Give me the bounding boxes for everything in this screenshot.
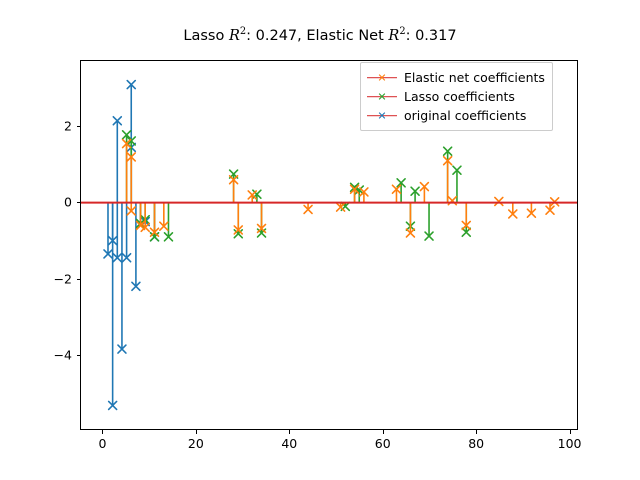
legend-label-lasso: Lasso coefficients — [404, 89, 515, 104]
x-tick-label: 20 — [188, 436, 204, 451]
x-tick-label: 0 — [98, 436, 106, 451]
series-lasso-coefficients — [123, 131, 471, 241]
y-tick-label: −4 — [38, 348, 72, 363]
x-tick-label: 100 — [558, 436, 582, 451]
x-tick-label: 60 — [375, 436, 391, 451]
y-tick-label: −2 — [38, 271, 72, 286]
title-r-symbol-1: R — [229, 28, 240, 44]
chart-legend: ✕ Elastic net coefficients ✕ Lasso coeff… — [360, 62, 553, 131]
matplotlib-figure: Lasso R2: 0.247, Elastic Net R2: 0.317 2… — [0, 0, 640, 480]
legend-item-lasso[interactable]: ✕ Lasso coefficients — [367, 87, 545, 106]
y-tick-label: 0 — [38, 195, 72, 210]
x-tick-label: 80 — [468, 436, 484, 451]
title-elastic-value: : 0.317 — [406, 28, 457, 44]
x-marker-icon: ✕ — [377, 110, 386, 121]
x-tick-mark — [476, 430, 477, 434]
series-elastic-net-coefficients — [123, 140, 559, 237]
x-tick-mark — [196, 430, 197, 434]
x-tick-mark — [570, 430, 571, 434]
x-tick-mark — [289, 430, 290, 434]
legend-item-original[interactable]: ✕ original coefficients — [367, 106, 545, 125]
chart-title: Lasso R2: 0.247, Elastic Net R2: 0.317 — [0, 26, 640, 44]
x-marker-icon: ✕ — [377, 72, 386, 83]
x-tick-label: 40 — [281, 436, 297, 451]
title-r-symbol-2: R — [388, 28, 399, 44]
x-tick-mark — [383, 430, 384, 434]
y-tick-label: 2 — [38, 118, 72, 133]
legend-label-elastic-net: Elastic net coefficients — [404, 70, 545, 85]
legend-marker-x-icon-original: ✕ — [367, 108, 397, 124]
legend-item-elastic-net[interactable]: ✕ Elastic net coefficients — [367, 68, 545, 87]
title-lasso-value: : 0.247, — [246, 28, 306, 44]
x-tick-mark — [102, 430, 103, 434]
legend-marker-x-icon-lasso: ✕ — [367, 89, 397, 105]
legend-marker-x-icon-elastic: ✕ — [367, 70, 397, 86]
title-elastic-label: Elastic Net — [306, 28, 388, 44]
x-marker-icon: ✕ — [377, 91, 386, 102]
x-axis-ticks: 020406080100 — [0, 430, 640, 470]
x-marker-icon — [495, 197, 503, 205]
series-original-coefficients — [104, 81, 158, 410]
title-lasso-label: Lasso — [183, 28, 229, 44]
legend-label-original: original coefficients — [404, 108, 526, 123]
